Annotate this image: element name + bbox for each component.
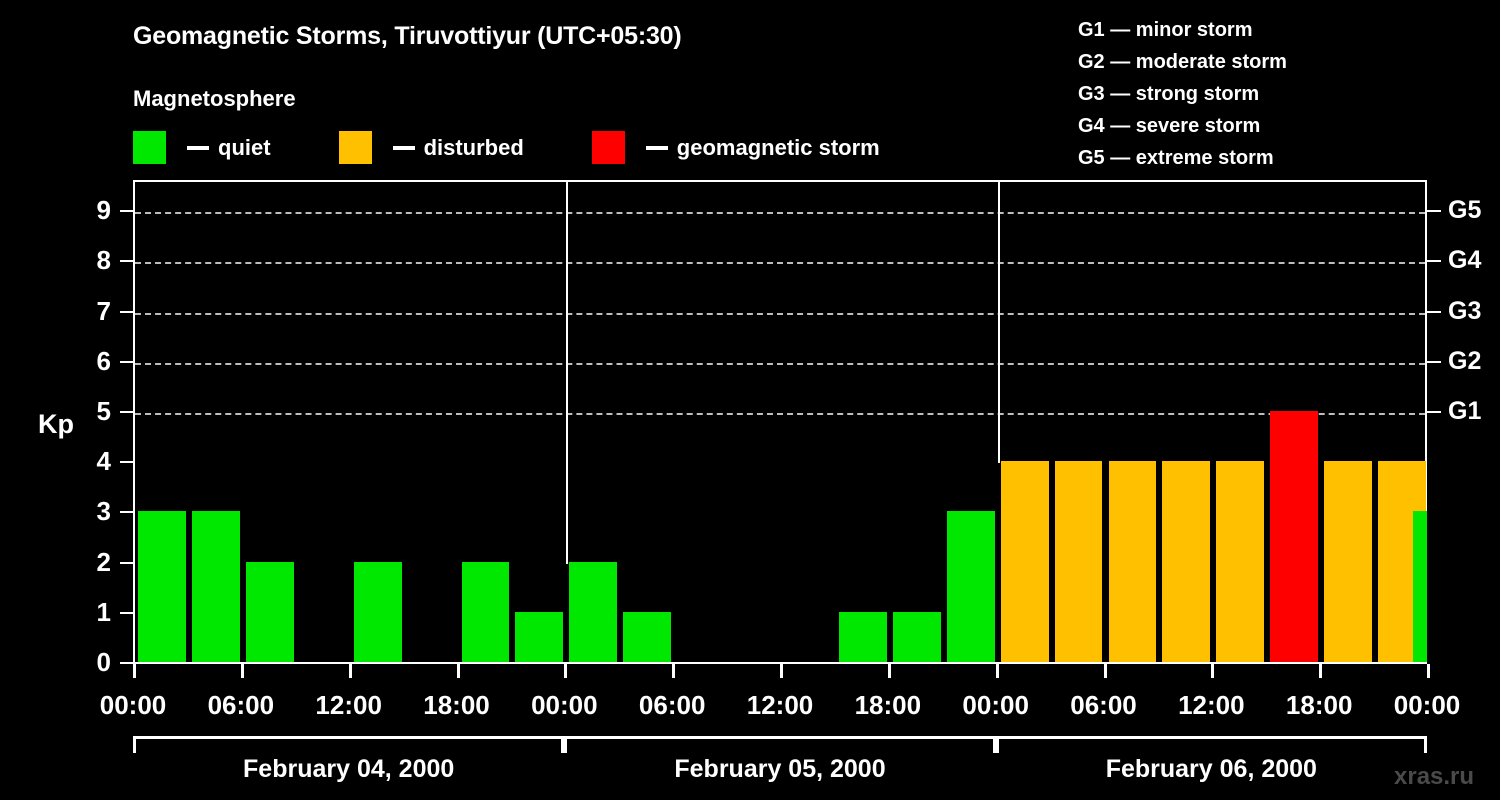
x-tick-label-5: 06:00 xyxy=(639,690,706,721)
y-tick-mark-5 xyxy=(120,411,133,413)
g-scale-legend: G1 — minor stormG2 — moderate stormG3 — … xyxy=(1078,14,1287,174)
plot-inner xyxy=(135,182,1425,662)
y-tick-label-2: 2 xyxy=(71,549,111,575)
y-tick-mark-2 xyxy=(120,562,133,564)
x-tick-mark-8 xyxy=(996,664,999,678)
bar-2[interactable] xyxy=(246,562,294,662)
bar-21[interactable] xyxy=(1270,411,1318,662)
gridline-kp-8 xyxy=(135,262,1425,264)
y-axis-title: Kp xyxy=(38,409,74,440)
g-scale-item-4: G4 — severe storm xyxy=(1078,110,1287,142)
legend-swatch-icon xyxy=(339,131,372,164)
y-tick-mark-1 xyxy=(120,612,133,614)
gridline-kp-7 xyxy=(135,313,1425,315)
x-tick-mark-3 xyxy=(457,664,460,678)
x-tick-mark-6 xyxy=(780,664,783,678)
x-tick-label-1: 06:00 xyxy=(208,690,275,721)
y-tick-mark-8 xyxy=(120,260,133,262)
bar-24[interactable] xyxy=(1413,511,1427,662)
bar-1[interactable] xyxy=(192,511,240,662)
y-tick-label-7: 7 xyxy=(71,298,111,324)
x-tick-label-7: 18:00 xyxy=(855,690,922,721)
bar-4[interactable] xyxy=(354,562,402,662)
legend-dash-icon xyxy=(646,146,668,150)
bar-22[interactable] xyxy=(1324,461,1372,662)
date-bracket-1 xyxy=(133,736,564,753)
y-tick-label-9: 9 xyxy=(71,197,111,223)
g-scale-item-1: G1 — minor storm xyxy=(1078,14,1287,46)
x-tick-label-3: 18:00 xyxy=(423,690,490,721)
watermark: xras.ru xyxy=(1394,763,1474,791)
x-tick-mark-11 xyxy=(1319,664,1322,678)
gridline-kp-6 xyxy=(135,363,1425,365)
y-tick-label-1: 1 xyxy=(71,599,111,625)
bar-17[interactable] xyxy=(1055,461,1103,662)
g-scale-item-5: G5 — extreme storm xyxy=(1078,142,1287,174)
bar-6[interactable] xyxy=(462,562,510,662)
bar-14[interactable] xyxy=(893,612,941,662)
x-tick-label-0: 00:00 xyxy=(100,690,167,721)
g-tick-mark-G4 xyxy=(1427,260,1441,262)
page-title: Geomagnetic Storms, Tiruvottiyur (UTC+05… xyxy=(133,22,682,51)
date-label-2: February 05, 2000 xyxy=(674,755,885,784)
x-tick-label-8: 00:00 xyxy=(962,690,1029,721)
y-tick-mark-7 xyxy=(120,311,133,313)
legend-entry-geomagnetic-storm: geomagnetic storm xyxy=(592,131,880,164)
color-legend: quietdisturbedgeomagnetic storm xyxy=(133,131,880,164)
x-tick-mark-9 xyxy=(1104,664,1107,678)
x-tick-label-4: 00:00 xyxy=(531,690,598,721)
g-tick-mark-G3 xyxy=(1427,311,1441,313)
x-tick-label-10: 12:00 xyxy=(1178,690,1245,721)
date-bracket-2 xyxy=(564,736,995,753)
x-tick-mark-0 xyxy=(133,664,136,678)
y-tick-mark-4 xyxy=(120,461,133,463)
bar-0[interactable] xyxy=(138,511,186,662)
bar-18[interactable] xyxy=(1109,461,1157,662)
g-tick-label-G2: G2 xyxy=(1448,349,1481,374)
y-tick-label-0: 0 xyxy=(71,649,111,675)
x-tick-label-2: 12:00 xyxy=(315,690,382,721)
x-tick-label-6: 12:00 xyxy=(747,690,814,721)
date-bracket-3 xyxy=(996,736,1427,753)
date-label-1: February 04, 2000 xyxy=(243,755,454,784)
legend-swatch-icon xyxy=(592,131,625,164)
bar-20[interactable] xyxy=(1216,461,1264,662)
legend-entry-disturbed: disturbed xyxy=(339,131,524,164)
g-tick-label-G1: G1 xyxy=(1448,399,1481,424)
gridline-kp-5 xyxy=(135,413,1425,415)
y-tick-label-5: 5 xyxy=(71,398,111,424)
x-tick-mark-4 xyxy=(564,664,567,678)
x-tick-mark-5 xyxy=(672,664,675,678)
x-tick-label-12: 00:00 xyxy=(1394,690,1461,721)
x-tick-mark-7 xyxy=(888,664,891,678)
plot-area xyxy=(133,180,1427,664)
g-tick-label-G3: G3 xyxy=(1448,299,1481,324)
legend-label: geomagnetic storm xyxy=(677,135,880,161)
y-tick-mark-0 xyxy=(120,662,133,664)
bar-15[interactable] xyxy=(947,511,995,662)
g-scale-item-2: G2 — moderate storm xyxy=(1078,46,1287,78)
bar-16[interactable] xyxy=(1001,461,1049,662)
y-tick-label-3: 3 xyxy=(71,498,111,524)
x-tick-label-9: 06:00 xyxy=(1070,690,1137,721)
x-tick-mark-10 xyxy=(1211,664,1214,678)
gridline-kp-9 xyxy=(135,212,1425,214)
g-tick-mark-G2 xyxy=(1427,361,1441,363)
x-tick-mark-1 xyxy=(241,664,244,678)
y-tick-label-4: 4 xyxy=(71,448,111,474)
x-tick-mark-12 xyxy=(1427,664,1430,678)
x-tick-mark-2 xyxy=(349,664,352,678)
g-scale-item-3: G3 — strong storm xyxy=(1078,78,1287,110)
y-tick-label-8: 8 xyxy=(71,247,111,273)
legend-label: quiet xyxy=(218,135,271,161)
x-tick-label-11: 18:00 xyxy=(1286,690,1353,721)
bar-7[interactable] xyxy=(515,612,563,662)
legend-dash-icon xyxy=(393,146,415,150)
y-tick-mark-9 xyxy=(120,210,133,212)
legend-label: disturbed xyxy=(424,135,524,161)
g-tick-label-G4: G4 xyxy=(1448,248,1481,273)
day-divider-2 xyxy=(998,182,1000,463)
y-tick-mark-3 xyxy=(120,511,133,513)
y-tick-mark-6 xyxy=(120,361,133,363)
legend-entry-quiet: quiet xyxy=(133,131,271,164)
g-tick-mark-G5 xyxy=(1427,210,1441,212)
legend-dash-icon xyxy=(187,146,209,150)
bar-13[interactable] xyxy=(839,612,887,662)
legend-swatch-icon xyxy=(133,131,166,164)
y-tick-label-6: 6 xyxy=(71,348,111,374)
bar-9[interactable] xyxy=(623,612,671,662)
bar-19[interactable] xyxy=(1162,461,1210,662)
section-label-magnetosphere: Magnetosphere xyxy=(133,86,296,112)
g-tick-label-G5: G5 xyxy=(1448,198,1481,223)
bar-8[interactable] xyxy=(569,562,617,662)
date-label-3: February 06, 2000 xyxy=(1106,755,1317,784)
g-tick-mark-G1 xyxy=(1427,411,1441,413)
day-divider-1 xyxy=(566,182,568,564)
